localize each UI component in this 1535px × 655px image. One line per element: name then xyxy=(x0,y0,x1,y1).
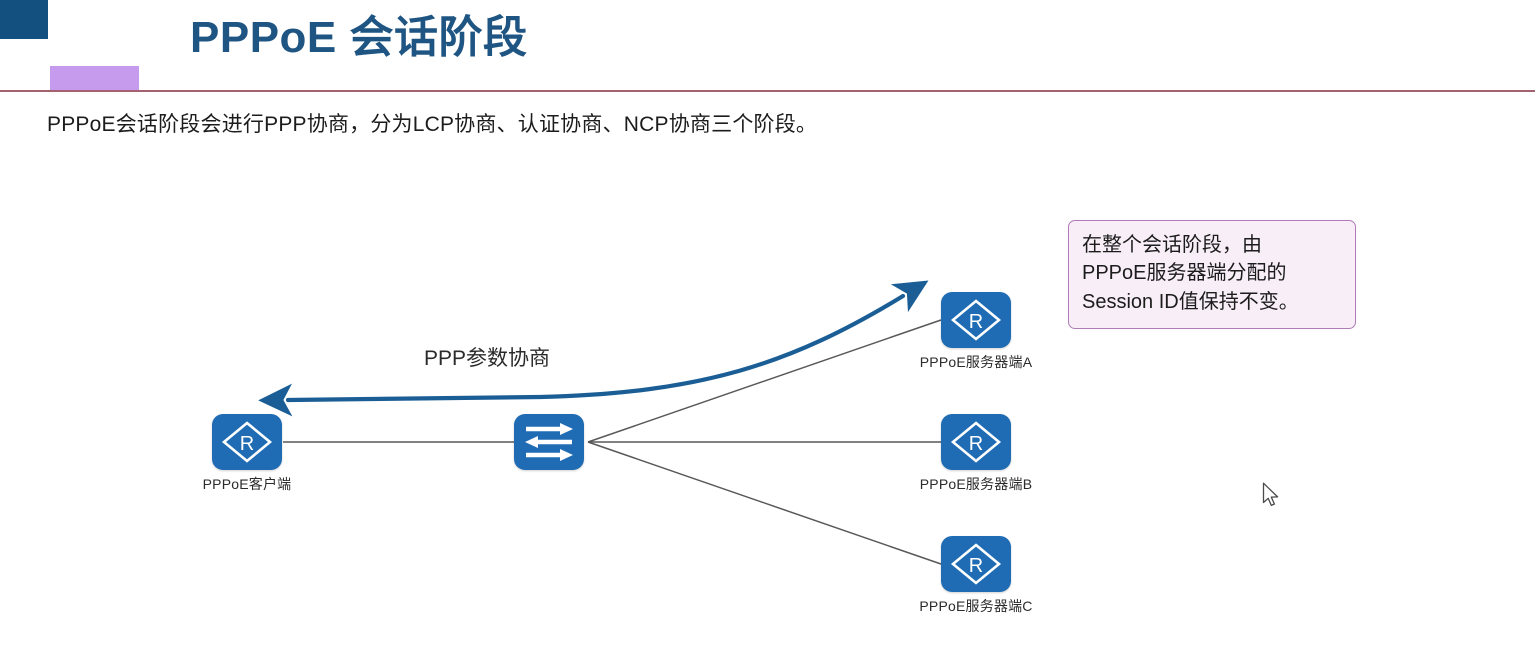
node-pppoe-server-b[interactable]: R PPPoE服务器端B xyxy=(941,414,1011,470)
node-pppoe-server-c[interactable]: R PPPoE服务器端C xyxy=(941,536,1011,592)
callout-line-1: 在整个会话阶段，由 xyxy=(1082,231,1342,259)
header-accent-bar xyxy=(50,66,139,91)
ppp-negotiation-arrow xyxy=(288,296,903,400)
node-label: PPPoE服务器端A xyxy=(920,352,1032,372)
node-label: PPPoE服务器端C xyxy=(919,596,1032,616)
node-switch[interactable] xyxy=(514,414,584,470)
ppp-negotiation-label: PPP参数协商 xyxy=(424,342,550,372)
router-icon: R xyxy=(941,292,1011,348)
node-label: PPPoE服务器端B xyxy=(920,474,1032,494)
session-id-callout: 在整个会话阶段，由 PPPoE服务器端分配的 Session ID值保持不变。 xyxy=(1068,220,1356,329)
router-icon: R xyxy=(212,414,282,470)
svg-text:R: R xyxy=(240,433,254,455)
callout-line-2: PPPoE服务器端分配的 xyxy=(1082,259,1342,287)
lead-paragraph: PPPoE会话阶段会进行PPP协商，分为LCP协商、认证协商、NCP协商三个阶段… xyxy=(47,108,817,138)
node-pppoe-server-a[interactable]: R PPPoE服务器端A xyxy=(941,292,1011,348)
svg-text:R: R xyxy=(969,433,983,455)
link-switch-server-c xyxy=(588,442,941,564)
page-title: PPPoE 会话阶段 xyxy=(190,13,528,62)
header-accent-square xyxy=(0,0,48,39)
link-switch-server-a xyxy=(588,320,941,442)
node-pppoe-client[interactable]: R PPPoE客户端 xyxy=(212,414,282,470)
callout-line-3: Session ID值保持不变。 xyxy=(1082,288,1342,316)
router-icon: R xyxy=(941,536,1011,592)
svg-text:R: R xyxy=(969,555,983,577)
header-divider xyxy=(0,90,1535,92)
node-label: PPPoE客户端 xyxy=(203,474,292,494)
switch-icon xyxy=(514,414,584,470)
svg-text:R: R xyxy=(969,311,983,333)
router-icon: R xyxy=(941,414,1011,470)
mouse-cursor xyxy=(1262,482,1282,510)
